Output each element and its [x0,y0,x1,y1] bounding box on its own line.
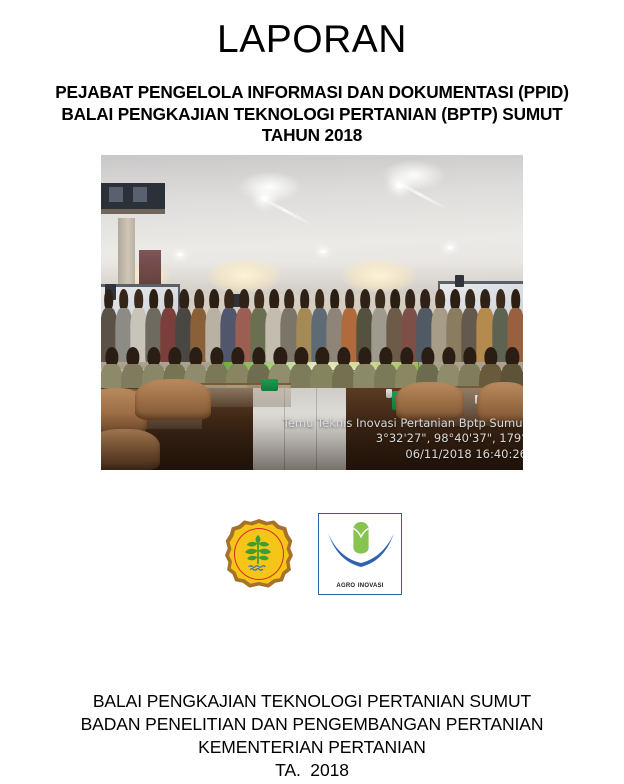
stamp-timestamp: 06/11/2018 16:40:26 [283,447,523,463]
subtitle-line-1: PEJABAT PENGELOLA INFORMASI DAN DOKUMENT… [0,82,624,104]
stamp-location-name: Temu Teknis Inovasi Pertanian Bptp Sumut [283,416,523,432]
window-strip [101,183,165,214]
stamp-coordinates: 3°32'27", 98°40'37", 179° [283,431,523,447]
footer-line-1: BALAI PENGKAJIAN TEKNOLOGI PERTANIAN SUM… [0,690,624,713]
chair [135,379,211,420]
document-footer: BALAI PENGKAJIAN TEKNOLOGI PERTANIAN SUM… [0,690,624,782]
curtain [139,250,161,284]
chair [101,429,160,470]
subtitle-line-3: TAHUN 2018 [0,125,624,147]
document-subtitle: PEJABAT PENGELOLA INFORMASI DAN DOKUMENT… [0,82,624,147]
water-glass [386,389,392,398]
kementerian-pertanian-seal-logo [222,514,296,594]
ceiling-spotlight [177,253,183,256]
chair [396,382,464,420]
cover-photograph: Temu Teknis Inovasi Pertanian Mendukung [101,155,523,470]
subtitle-line-2: BALAI PENGKAJIAN TEKNOLOGI PERTANIAN (BP… [0,104,624,126]
agro-inovasi-logo: Agro Inovasi [318,513,402,595]
ceiling-spotlight [320,250,326,253]
seal-plant-emblem [234,528,282,578]
green-bag [261,379,278,392]
speaker-box [455,275,464,287]
footer-line-3: KEMENTERIAN PERTANIAN [0,736,624,759]
photo-geotag-stamp: Temu Teknis Inovasi Pertanian Bptp Sumut… [283,416,523,463]
footer-line-4: TA. 2018 [0,759,624,782]
logo-row: Agro Inovasi [0,508,624,600]
page-title: LAPORAN [0,18,624,62]
agro-inovasi-caption: Agro Inovasi [319,579,401,589]
agro-inovasi-mark [319,516,403,574]
footer-line-2: BADAN PENELITIAN DAN PENGEMBANGAN PERTAN… [0,713,624,736]
